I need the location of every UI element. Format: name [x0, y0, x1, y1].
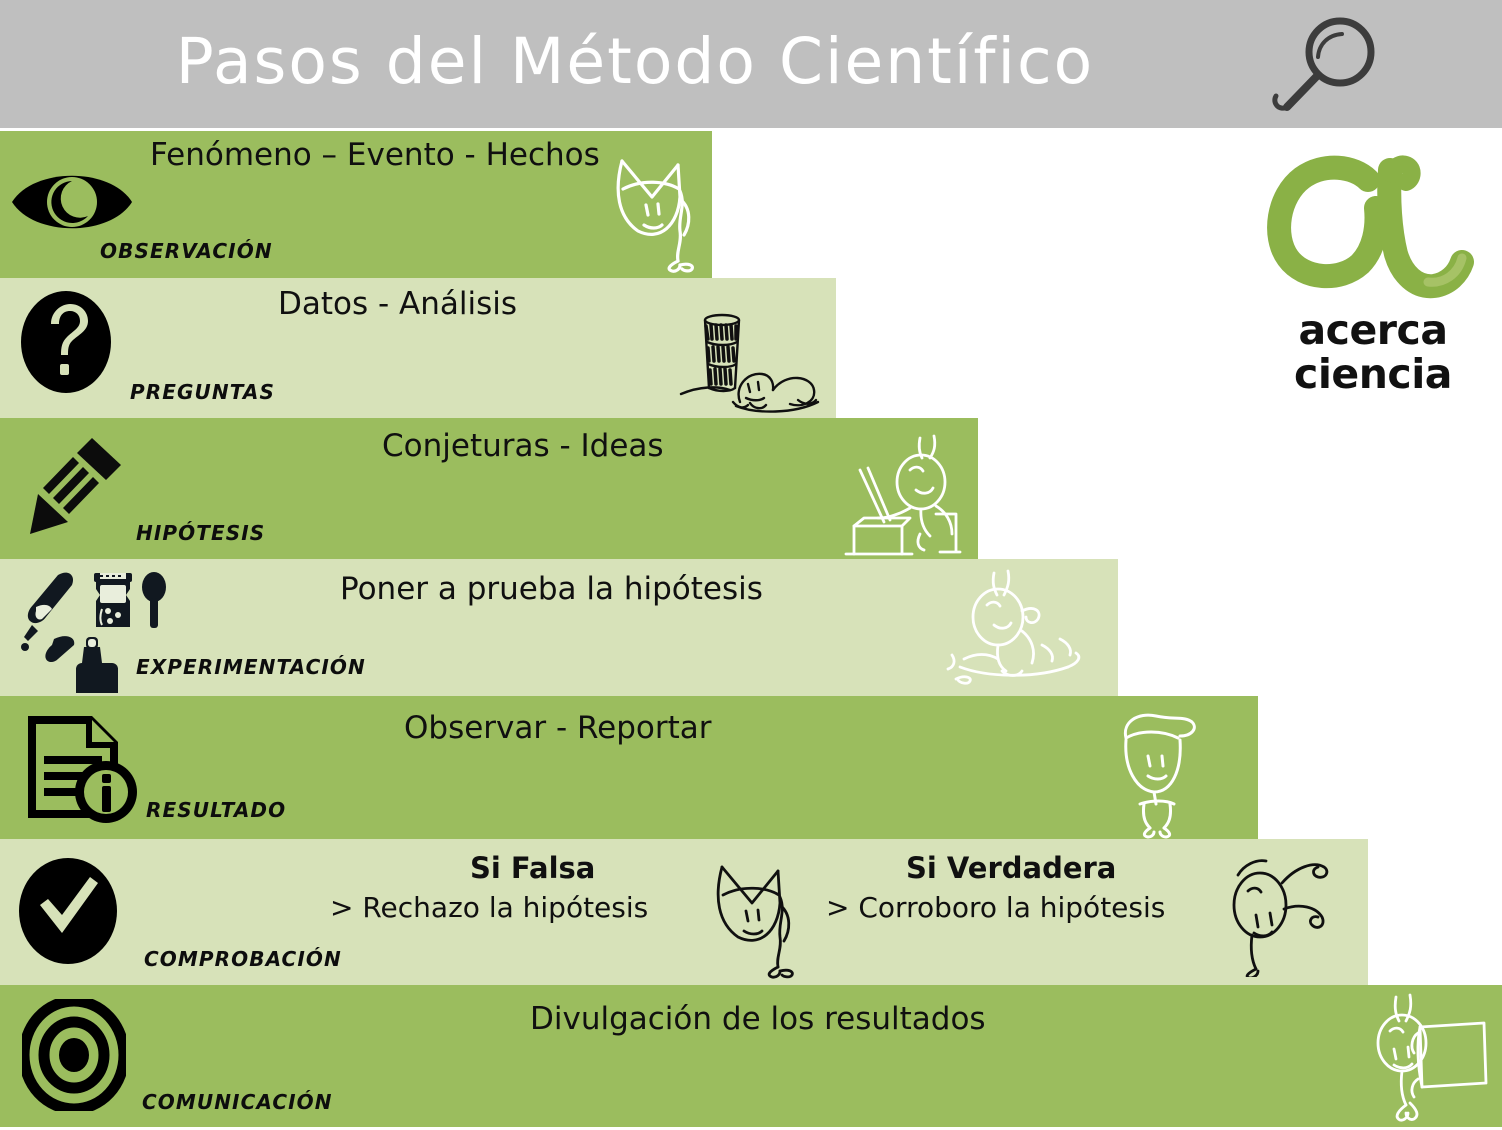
check-mark-icon: [18, 857, 118, 969]
question-mark-icon: [20, 290, 112, 398]
step-7-headline: Divulgación de los resultados: [530, 1001, 986, 1037]
step-2-label: PREGUNTAS: [130, 380, 275, 404]
step-5-headline: Observar - Reportar: [404, 710, 712, 746]
step-1-observacion[interactable]: Fenómeno – Evento - Hechos OBSERVACIÓN: [0, 131, 712, 278]
step-3-label: HIPÓTESIS: [136, 521, 265, 545]
step-3-hipotesis[interactable]: Conjeturas - Ideas HIPÓTESIS: [0, 418, 978, 559]
step-1-headline: Fenómeno – Evento - Hechos: [150, 137, 600, 173]
step-3-headline: Conjeturas - Ideas: [382, 428, 664, 464]
brand-line-1: acerca: [1258, 308, 1488, 352]
step-7-comunicacion[interactable]: Divulgación de los resultados COMUNICACI…: [0, 985, 1502, 1127]
brand-logo: acerca ciencia: [1258, 150, 1488, 400]
stick-figure-cap: [1100, 704, 1240, 843]
stick-figure-happy-arms-up: [1208, 847, 1353, 981]
eye-icon: [10, 163, 134, 245]
stick-figure-pointed-hat: [600, 139, 720, 278]
magnifier-icon: [1268, 14, 1384, 118]
lab-tools-icon: [14, 565, 184, 697]
stick-figure-at-desk: [824, 430, 964, 564]
document-info-icon: [22, 712, 138, 828]
branch-false-title: Si Falsa: [470, 851, 595, 885]
brand-wordmark: acerca ciencia: [1258, 308, 1488, 396]
step-4-headline: Poner a prueba la hipótesis: [340, 571, 763, 607]
step-2-headline: Datos - Análisis: [278, 286, 517, 322]
target-icon: [22, 999, 126, 1115]
page-title: Pasos del Método Científico: [0, 12, 1270, 112]
branch-true-title: Si Verdadera: [906, 851, 1116, 885]
step-6-comprobacion[interactable]: Si Falsa > Rechazo la hipótesis Si Verda…: [0, 839, 1368, 985]
pencil-icon: [20, 434, 128, 546]
brand-line-2: ciencia: [1258, 352, 1488, 396]
step-6-label: COMPROBACIÓN: [144, 947, 342, 971]
branch-false-subtitle: > Rechazo la hipótesis: [330, 891, 648, 924]
stick-figure-stacked-cups: [678, 306, 828, 420]
step-5-label: RESULTADO: [146, 798, 286, 822]
step-2-preguntas[interactable]: Datos - Análisis PREGUNTAS: [0, 278, 836, 418]
branch-true-subtitle: > Corroboro la hipótesis: [826, 891, 1165, 924]
stick-figure-holding-sign: [1362, 991, 1502, 1130]
stick-figure-sad-hat: [700, 845, 820, 984]
step-5-resultado[interactable]: Observar - Reportar RESULTADO: [0, 696, 1258, 839]
stick-figure-splash: [942, 567, 1102, 701]
acerca-ciencia-logo-mark: [1262, 150, 1484, 310]
step-7-label: COMUNICACIÓN: [142, 1090, 333, 1114]
header-bar: Pasos del Método Científico: [0, 0, 1502, 128]
step-4-experimentacion[interactable]: Poner a prueba la hipótesis EXPERIMENTAC…: [0, 559, 1118, 696]
